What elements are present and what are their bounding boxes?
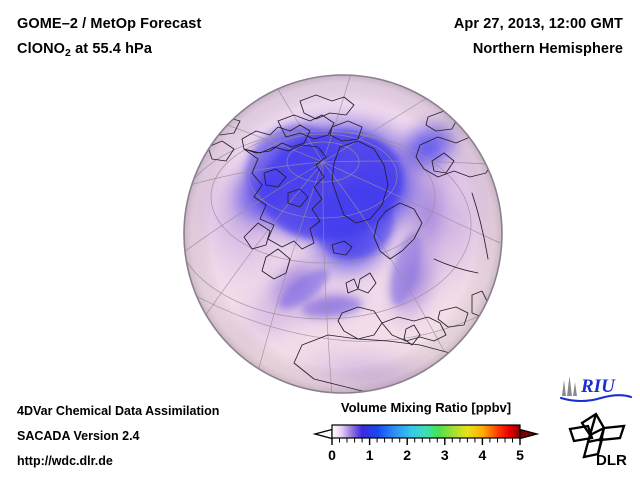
colorbar: Volume Mixing Ratio [ppbv] (312, 400, 540, 470)
colorbar-scale (312, 420, 540, 446)
riu-logo: RIU (559, 372, 633, 404)
colorbar-tick-1: 1 (366, 447, 374, 463)
colorbar-min-arrow (315, 430, 332, 439)
globe-map (182, 73, 504, 395)
page-title: GOME–2 / MetOp Forecast (17, 16, 201, 32)
footer-line-assimilation: 4DVar Chemical Data Assimilation (17, 404, 219, 418)
dlr-logo: DLR (566, 412, 634, 468)
colorbar-tick-4: 4 (478, 447, 486, 463)
colorbar-title: Volume Mixing Ratio [ppbv] (312, 400, 540, 415)
colorbar-gradient (332, 425, 520, 438)
footer-line-version: SACADA Version 2.4 (17, 429, 140, 443)
species-subscript: 2 (65, 47, 71, 59)
colorbar-major-ticks (332, 438, 520, 445)
colorbar-tick-labels: 0 1 2 3 4 5 (312, 447, 540, 467)
species-level: at 55.4 hPa (71, 41, 152, 57)
dlr-emblem-icon (570, 414, 624, 457)
colorbar-tick-2: 2 (403, 447, 411, 463)
datetime-label: Apr 27, 2013, 12:00 GMT (454, 16, 623, 32)
colorbar-tick-5: 5 (516, 447, 524, 463)
visualization-page: GOME–2 / MetOp Forecast ClONO2 at 55.4 h… (0, 0, 640, 480)
riu-bars-icon (562, 376, 577, 396)
region-label: Northern Hemisphere (473, 41, 623, 57)
colorbar-tick-0: 0 (328, 447, 336, 463)
species-level-title: ClONO2 at 55.4 hPa (17, 41, 152, 57)
colorbar-minor-ticks (340, 438, 513, 443)
dlr-wordmark: DLR (596, 452, 627, 468)
colorbar-max-arrow (520, 430, 537, 439)
riu-wordmark: RIU (580, 376, 616, 397)
species-name: ClONO (17, 41, 65, 57)
footer-line-url[interactable]: http://wdc.dlr.de (17, 454, 113, 468)
colorbar-tick-3: 3 (441, 447, 449, 463)
